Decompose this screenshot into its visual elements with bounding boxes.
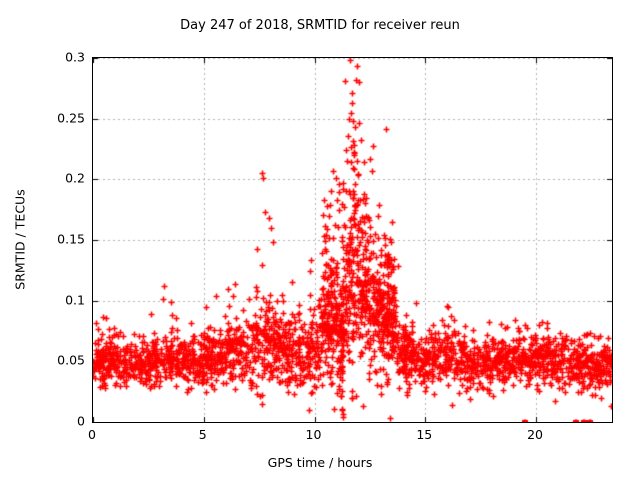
- plot-area: [92, 57, 613, 423]
- x-tick-label: 10: [306, 427, 322, 442]
- x-tick-label: 20: [527, 427, 543, 442]
- scatter-plot-canvas: [93, 58, 612, 422]
- x-tick-label: 0: [88, 427, 96, 442]
- x-axis-label: GPS time / hours: [0, 455, 640, 470]
- chart-title: Day 247 of 2018, SRMTID for receiver reu…: [0, 18, 640, 33]
- x-tick-label: 15: [416, 427, 432, 442]
- chart-page: Day 247 of 2018, SRMTID for receiver reu…: [0, 0, 640, 480]
- y-tick-label: 0.05: [57, 353, 85, 368]
- y-tick-label: 0.2: [65, 171, 85, 186]
- y-tick-label: 0.3: [65, 50, 85, 65]
- y-axis-label: SRMTID / TECUs: [13, 160, 28, 320]
- y-tick-label: 0.25: [57, 110, 85, 125]
- y-tick-label: 0.1: [65, 292, 85, 307]
- x-tick-label: 5: [199, 427, 207, 442]
- y-tick-label: 0.15: [57, 232, 85, 247]
- y-tick-label: 0: [77, 414, 85, 429]
